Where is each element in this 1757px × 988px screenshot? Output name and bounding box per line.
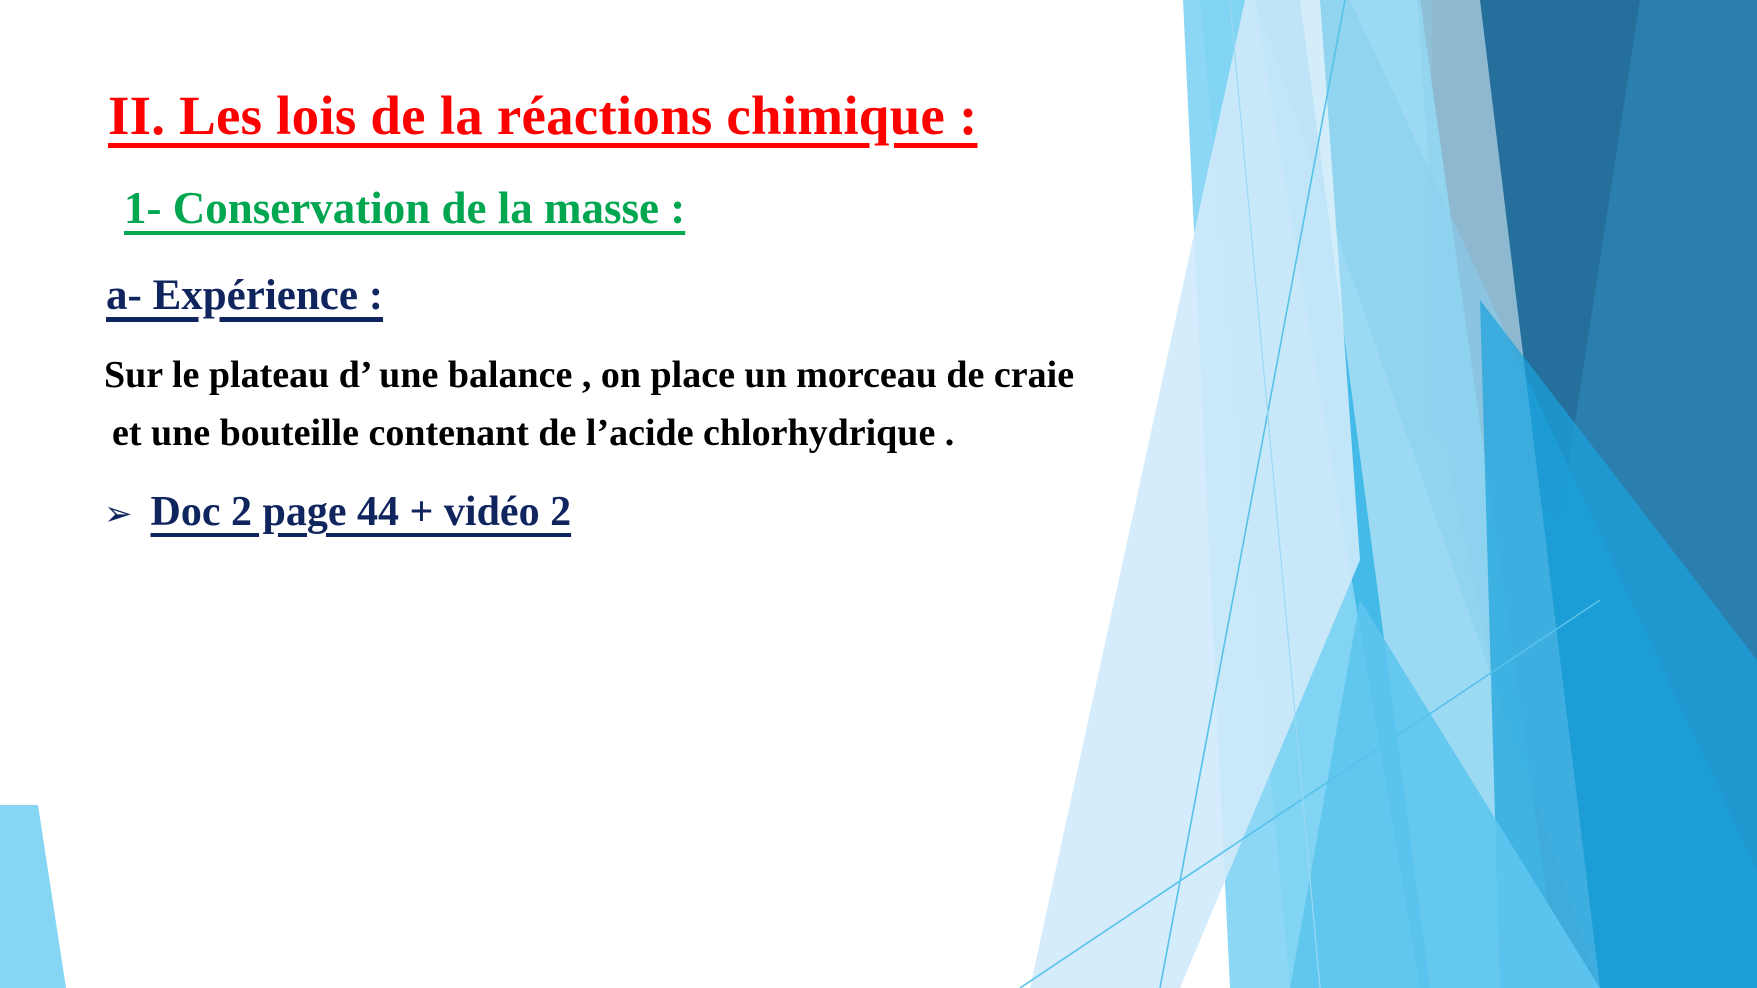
ribbon-accent-lower: [1480, 300, 1757, 988]
bullet-item-label: Doc 2 page 44 + vidéo 2: [151, 491, 572, 533]
subsection-heading: a- Expérience :: [106, 274, 383, 317]
bullet-list-item: ➢ Doc 2 page 44 + vidéo 2: [104, 491, 571, 533]
slide-text-body: II. Les lois de la réactions chimique : …: [0, 0, 1400, 988]
ribbon-deep-right: [1417, 0, 1757, 988]
body-paragraph-line-2: et une bouteille contenant de l’acide ch…: [112, 414, 954, 452]
presentation-slide: II. Les lois de la réactions chimique : …: [0, 0, 1757, 988]
slide-title: II. Les lois de la réactions chimique :: [108, 88, 977, 143]
section-subtitle: 1- Conservation de la masse :: [124, 186, 685, 231]
ribbon-deep-upper: [1430, 0, 1640, 520]
arrowhead-bullet-icon: ➢: [104, 497, 133, 531]
body-paragraph-line-1: Sur le plateau d’ une balance , on place…: [104, 356, 1074, 394]
